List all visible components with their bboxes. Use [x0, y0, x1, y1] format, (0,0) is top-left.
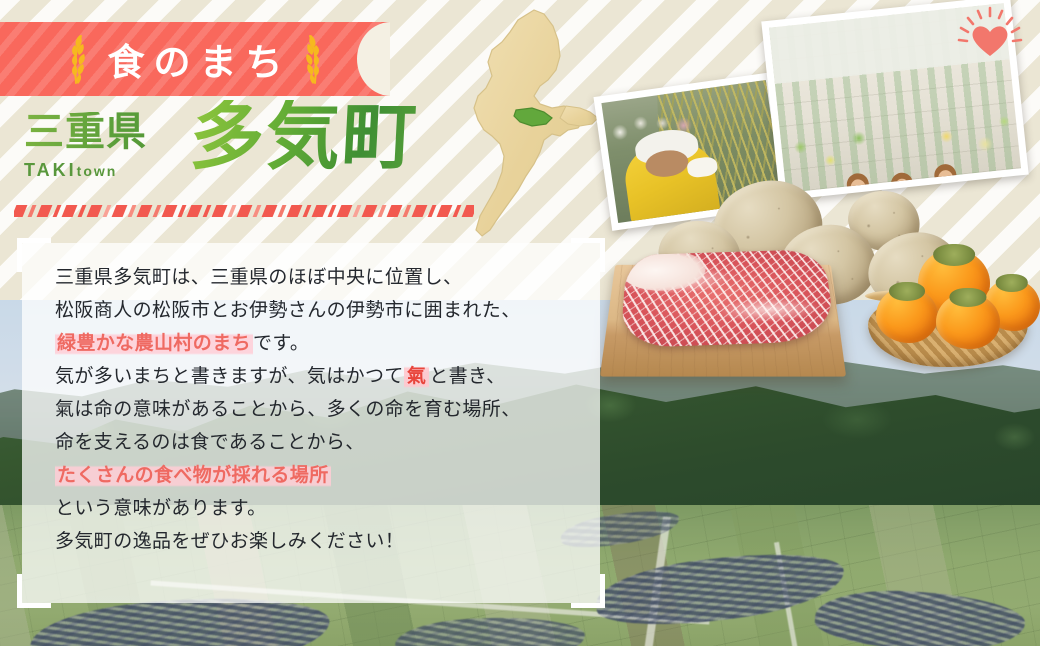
description-line: 気が多いまちと書きますが、気はかつて氣と書き、	[55, 360, 586, 393]
romaji-sub: town	[77, 163, 118, 179]
description-line: という意味があります。	[55, 492, 586, 525]
dash-segment	[212, 205, 228, 217]
dash-segment	[462, 205, 474, 217]
food-town-banner: 食のまち	[0, 22, 390, 96]
marbled-wagyu-beef	[620, 249, 837, 348]
heart-with-rays-icon	[952, 4, 1028, 64]
dash-segment	[278, 205, 287, 217]
description-line: 氣は命の意味があることから、多くの命を育む場所、	[55, 393, 586, 426]
dash-segment	[78, 205, 87, 217]
wheat-sprig-icon	[302, 31, 326, 87]
highlighted-kanji: 氣	[404, 364, 429, 388]
dash-segment	[178, 205, 187, 217]
heart-shape	[973, 26, 1008, 56]
dash-segment	[237, 205, 253, 217]
dash-segment	[103, 205, 112, 217]
text-run: と書き、	[429, 365, 505, 387]
text-run: 命を支えるのは食であることから、	[55, 431, 365, 453]
town-name: 多気町	[188, 100, 420, 174]
description-line: 命を支えるのは食であることから、	[55, 426, 586, 459]
dash-segment	[287, 205, 303, 217]
highlighted-phrase: たくさんの食べ物が採れる場所	[55, 463, 331, 487]
panel-corner	[17, 238, 51, 272]
description-line: たくさんの食べ物が採れる場所	[55, 459, 586, 492]
dash-segment	[403, 205, 412, 217]
dash-segment	[412, 205, 428, 217]
description-panel: 三重県多気町は、三重県のほぼ中央に位置し、松阪商人の松阪市とお伊勢さんの伊勢市に…	[22, 243, 600, 603]
description-line: 松阪商人の松阪市とお伊勢さんの伊勢市に囲まれた、	[55, 294, 586, 327]
dash-segment	[387, 205, 403, 217]
title-block: 三重県 TAKItown 多気町	[22, 108, 492, 203]
panel-corner	[571, 574, 605, 608]
dash-segment	[362, 205, 378, 217]
text-run: 気が多いまちと書きますが、気はかつて	[55, 365, 404, 387]
text-run: です。	[253, 332, 309, 354]
dash-segment	[353, 205, 362, 217]
dash-segment	[203, 205, 212, 217]
highlighted-phrase: 緑豊かな農山村のまち	[55, 331, 253, 355]
dash-segment	[453, 205, 462, 217]
prefecture-column: 三重県 TAKItown	[24, 112, 194, 181]
dash-segment	[262, 205, 278, 217]
dash-segment	[253, 205, 262, 217]
dash-segment	[303, 205, 312, 217]
banner-label: 食のまち	[99, 32, 292, 86]
panel-corner	[17, 574, 51, 608]
persimmon	[876, 287, 938, 343]
dash-segment	[428, 205, 437, 217]
dash-segment	[162, 205, 178, 217]
banner-ribbon-notch	[357, 22, 391, 96]
dash-segment	[228, 205, 237, 217]
dash-segment	[53, 205, 62, 217]
text-run: 氣は命の意味があることから、多くの命を育む場所、	[55, 398, 521, 420]
dash-segment	[14, 205, 27, 217]
romaji-name: TAKItown	[24, 160, 194, 181]
persimmon	[936, 293, 1000, 349]
dash-segment	[137, 205, 153, 217]
dash-segment	[62, 205, 78, 217]
dash-segment	[187, 205, 203, 217]
dash-segment	[437, 205, 453, 217]
text-run: 松阪商人の松阪市とお伊勢さんの伊勢市に囲まれた、	[55, 299, 521, 321]
dash-segment	[153, 205, 162, 217]
description-text: 三重県多気町は、三重県のほぼ中央に位置し、松阪商人の松阪市とお伊勢さんの伊勢市に…	[55, 261, 586, 558]
dash-segment	[312, 205, 328, 217]
dash-segment	[378, 205, 387, 217]
dash-segment	[112, 205, 128, 217]
poster-root: 食のまち 三重県 TAKItown	[0, 0, 1040, 646]
description-line: 多気町の逸品をぜひお楽しみください！	[55, 525, 586, 558]
dash-segment	[337, 205, 353, 217]
description-line: 緑豊かな農山村のまちです。	[55, 327, 586, 360]
text-run: という意味があります。	[55, 497, 267, 519]
text-run: 三重県多気町は、三重県のほぼ中央に位置し、	[55, 266, 462, 288]
dashed-accent-rule	[14, 205, 474, 217]
dash-segment	[28, 205, 37, 217]
panel-corner	[571, 238, 605, 272]
food-still-life	[620, 175, 1040, 400]
prefecture-name: 三重県	[24, 112, 194, 153]
dash-segment	[87, 205, 103, 217]
wheat-sprig-icon	[65, 31, 89, 87]
dash-segment	[37, 205, 53, 217]
romaji-main: TAKI	[24, 160, 77, 180]
dash-segment	[128, 205, 137, 217]
description-line: 三重県多気町は、三重県のほぼ中央に位置し、	[55, 261, 586, 294]
text-run: 多気町の逸品をぜひお楽しみください！	[55, 530, 404, 552]
dash-segment	[328, 205, 337, 217]
